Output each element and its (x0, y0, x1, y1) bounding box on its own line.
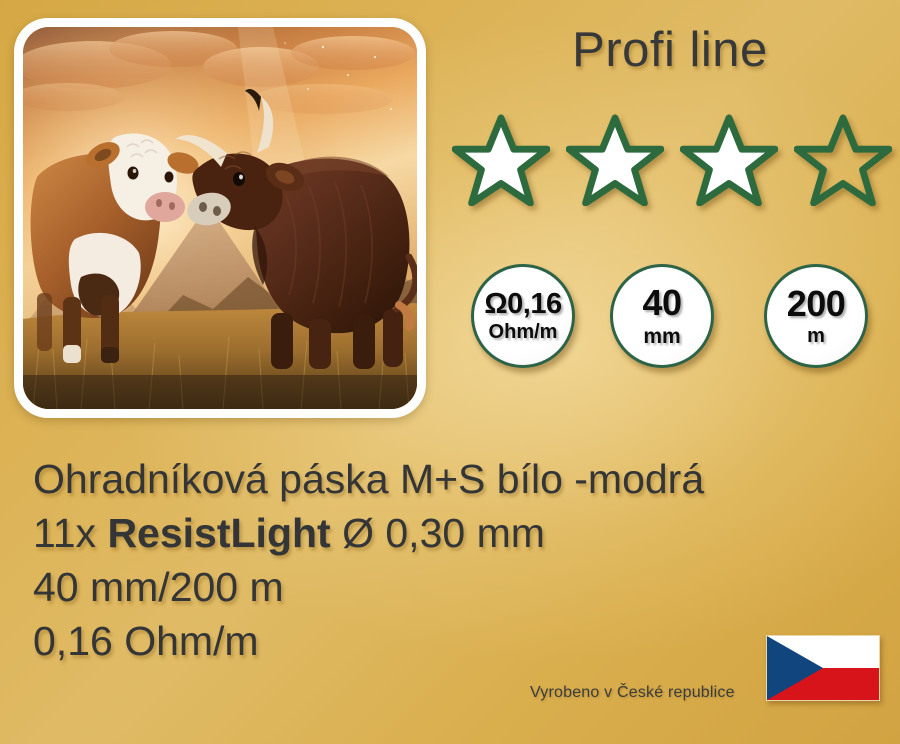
description-line-4: 0,16 Ohm/m (33, 614, 843, 668)
badge-resistance: Ω0,16 Ohm/m (471, 264, 575, 368)
badge-width-value: 40 (642, 285, 681, 321)
product-description: Ohradníková páska M+S bílo -modrá 11x Re… (33, 452, 843, 668)
description-line-2: 11x ResistLight Ø 0,30 mm (33, 506, 843, 560)
badge-width-unit: mm (643, 326, 680, 347)
badge-resistance-unit: Ohm/m (489, 322, 558, 342)
product-poster: Profi line Ω0,16 Ohm/m 40 mm 200 m (0, 0, 900, 744)
badge-length-unit: m (807, 326, 825, 346)
description-line-2-brand: ResistLight (107, 510, 330, 556)
description-line-2-prefix: 11x (33, 510, 107, 556)
badge-resistance-value: Ω0,16 (484, 290, 561, 319)
czech-republic-flag-icon (766, 635, 880, 701)
description-line-2-suffix: Ø 0,30 mm (331, 510, 545, 556)
page-title: Profi line (450, 22, 890, 78)
rating-stars (452, 112, 892, 206)
star-icon-3 (680, 112, 778, 206)
badge-length-value: 200 (787, 286, 846, 322)
description-line-1: Ohradníková páska M+S bílo -modrá (33, 452, 843, 506)
star-icon-2 (566, 112, 664, 206)
badge-length: 200 m (764, 264, 868, 368)
product-photo-frame (14, 18, 426, 418)
spec-badges: Ω0,16 Ohm/m 40 mm 200 m (452, 264, 892, 372)
product-photo (23, 27, 417, 409)
description-line-3: 40 mm/200 m (33, 560, 843, 614)
star-icon-4-empty (794, 112, 892, 206)
badge-width: 40 mm (610, 264, 714, 368)
made-in-label: Vyrobeno v České republice (530, 684, 735, 702)
star-icon-1 (452, 112, 550, 206)
